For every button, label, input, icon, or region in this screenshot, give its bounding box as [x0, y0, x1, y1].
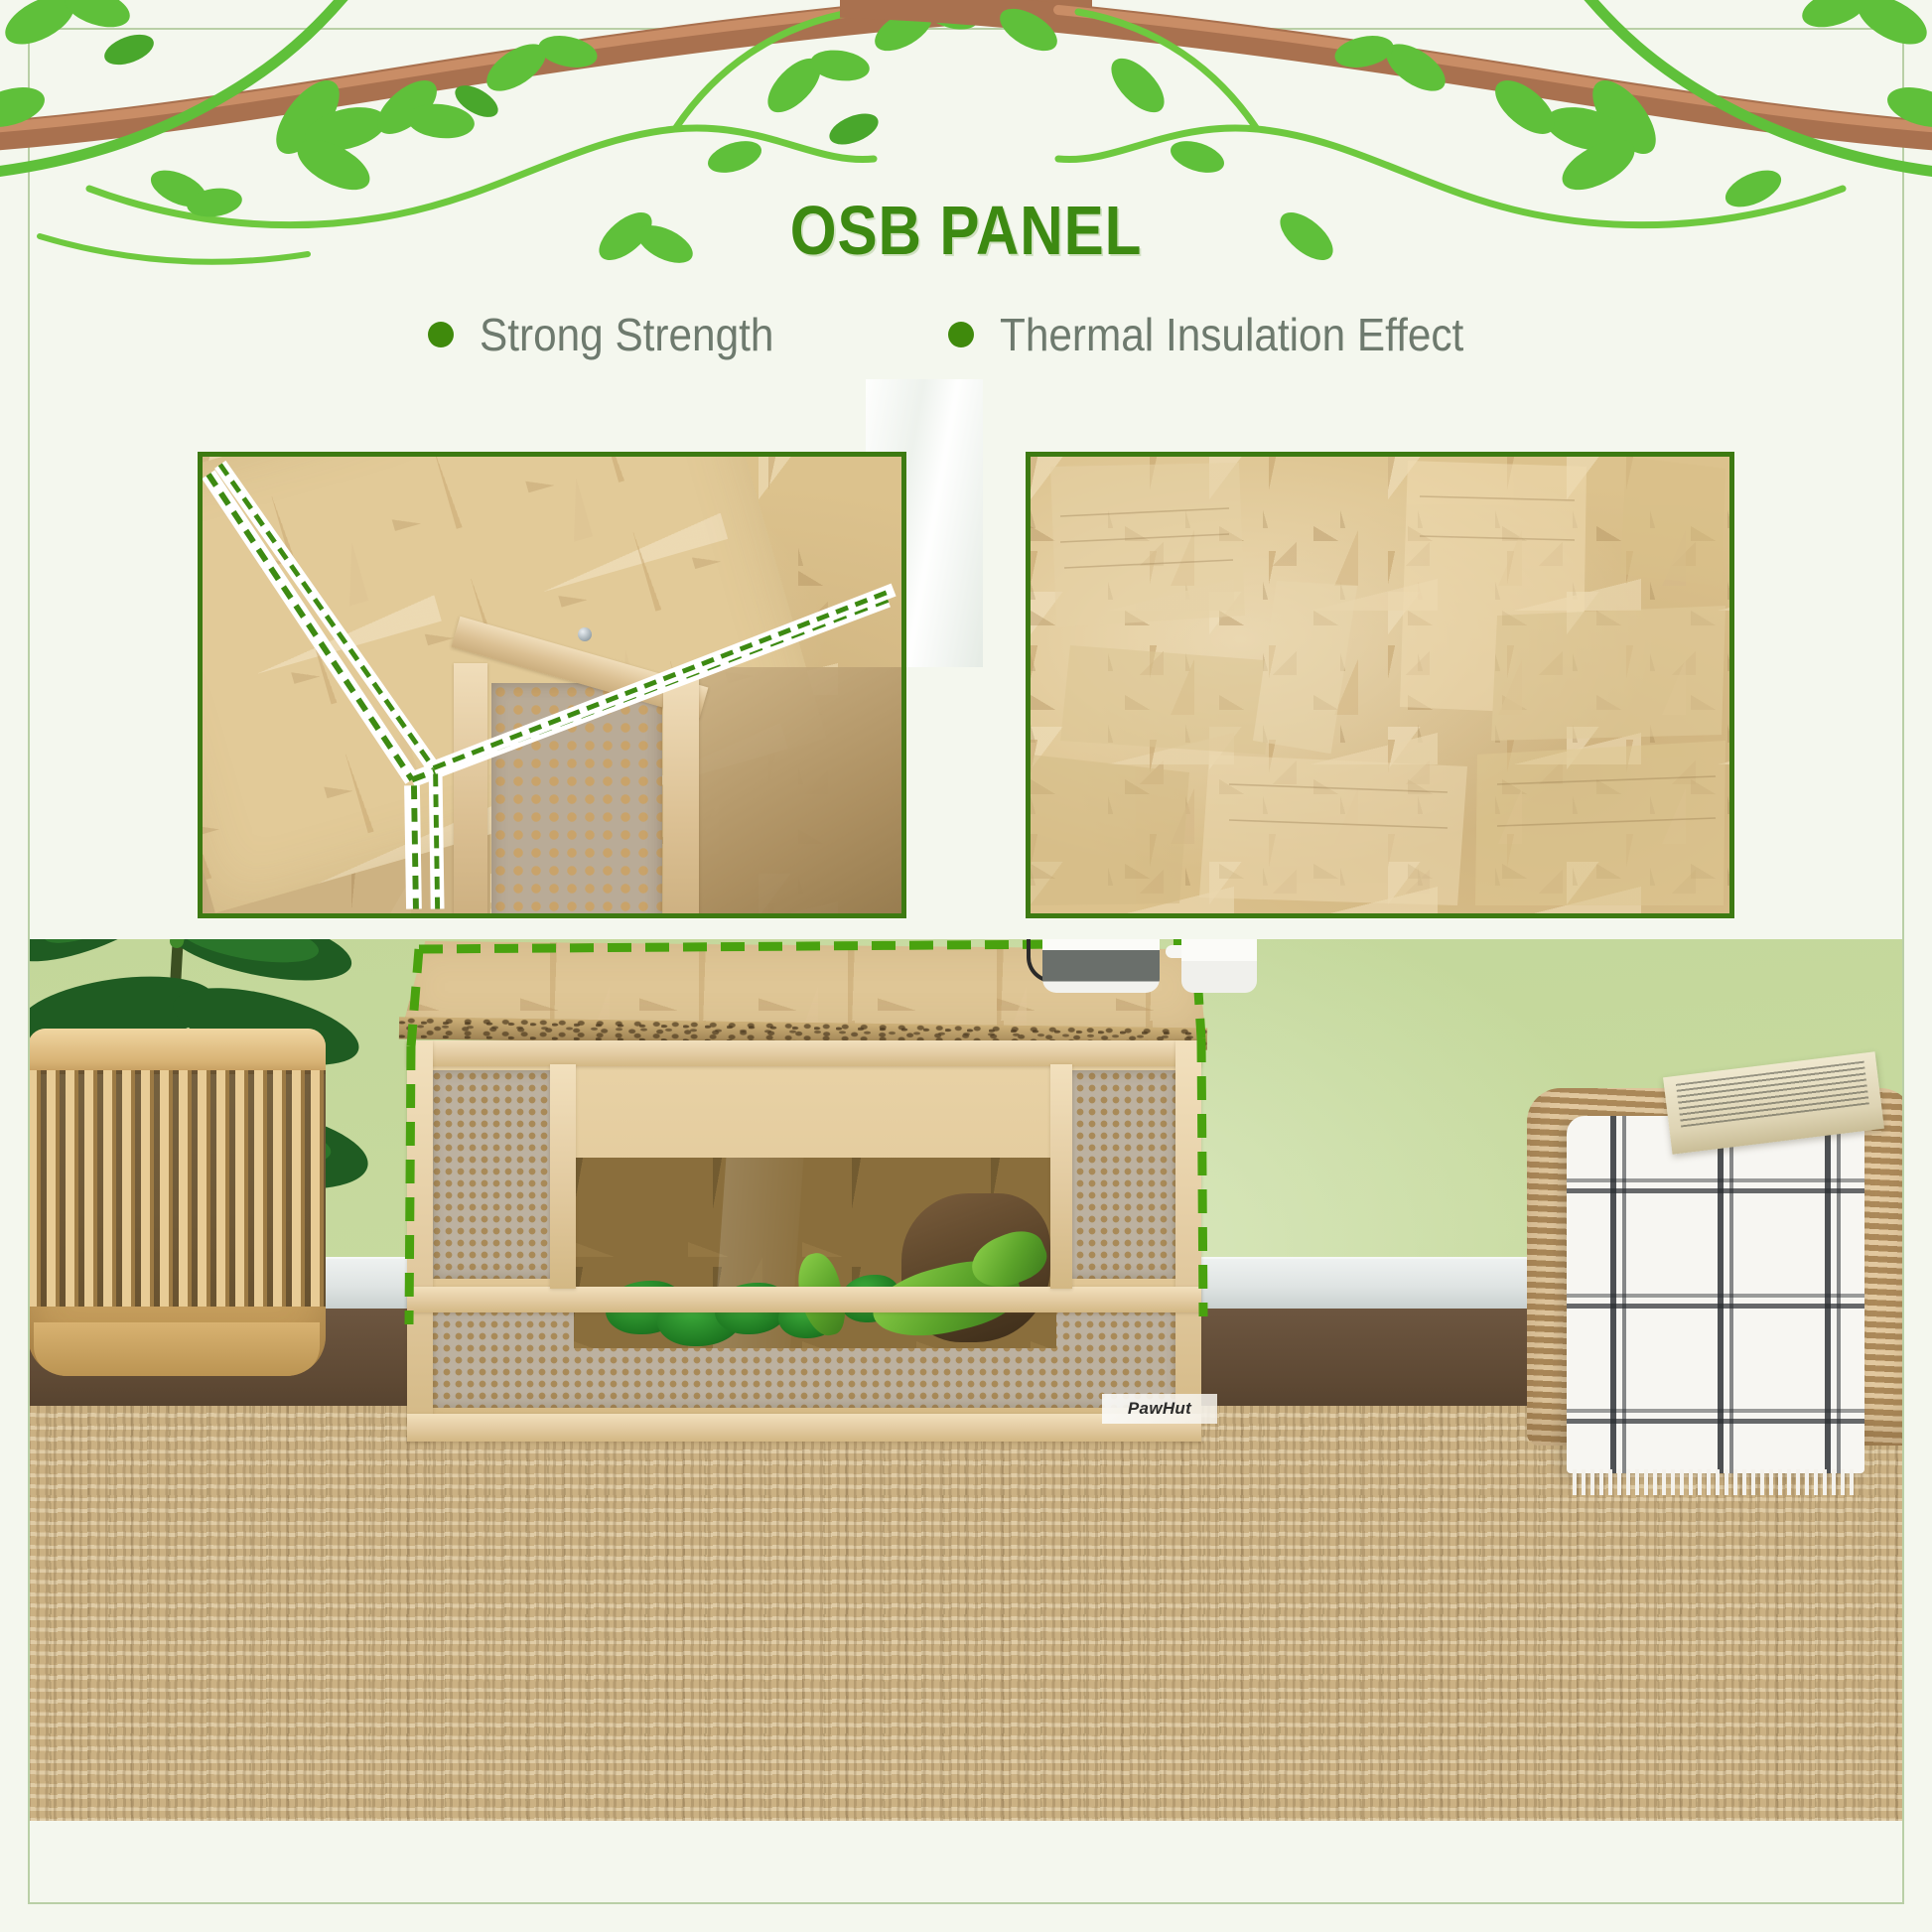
watering-can-pot [1181, 939, 1257, 993]
ceramic-bucket-pot [1042, 939, 1160, 993]
page-title: OSB PANEL [135, 191, 1797, 270]
frame-rail-bottom [407, 1414, 1201, 1442]
bullet-dot-icon [428, 322, 454, 347]
basket-rim [28, 1029, 326, 1074]
frame-stile-left [550, 1064, 576, 1289]
plaid-throw-blanket [1567, 1116, 1864, 1473]
feature-bullet-strong-strength: Strong Strength [428, 308, 799, 361]
osb-strand-overlay [1031, 457, 1729, 913]
mesh-ventilation-panel-left [431, 1070, 560, 1279]
edge-highlight-dashed [203, 457, 901, 916]
frame-rail-top [407, 1040, 1201, 1066]
frame-stile-right [1050, 1064, 1072, 1289]
feature-bullet-label: Strong Strength [480, 308, 773, 361]
mesh-ventilation-panel-right [1062, 1070, 1177, 1279]
rattan-basket-planter [28, 1029, 326, 1376]
basket-slats [28, 1070, 326, 1307]
feature-bullet-thermal-insulation: Thermal Insulation Effect [948, 308, 1504, 361]
infographic-canvas: OSB PANEL Strong Strength Thermal Insula… [0, 0, 1932, 1932]
header: OSB PANEL Strong Strength Thermal Insula… [0, 0, 1932, 361]
product-lifestyle-photo: PawHut [28, 939, 1904, 1821]
feature-bullet-label: Thermal Insulation Effect [1000, 308, 1463, 361]
basket-base [34, 1322, 320, 1376]
terrarium-body: PawHut [407, 1040, 1201, 1442]
frame-rail-left [407, 1040, 433, 1442]
brand-logo: PawHut [1102, 1394, 1217, 1424]
reptile-terrarium-product: PawHut [377, 941, 1223, 1448]
frame-rail-right [1175, 1040, 1201, 1442]
frame-rail-mid [407, 1287, 1201, 1312]
glass-viewing-window [574, 1158, 1056, 1348]
detail-panel-strength [198, 452, 906, 918]
bullet-dot-icon [948, 322, 974, 347]
throw-fringe [1573, 1469, 1859, 1495]
detail-panel-row [0, 452, 1932, 918]
detail-panel-insulation [1026, 452, 1734, 918]
feature-bullet-list: Strong Strength Thermal Insulation Effec… [0, 308, 1932, 361]
